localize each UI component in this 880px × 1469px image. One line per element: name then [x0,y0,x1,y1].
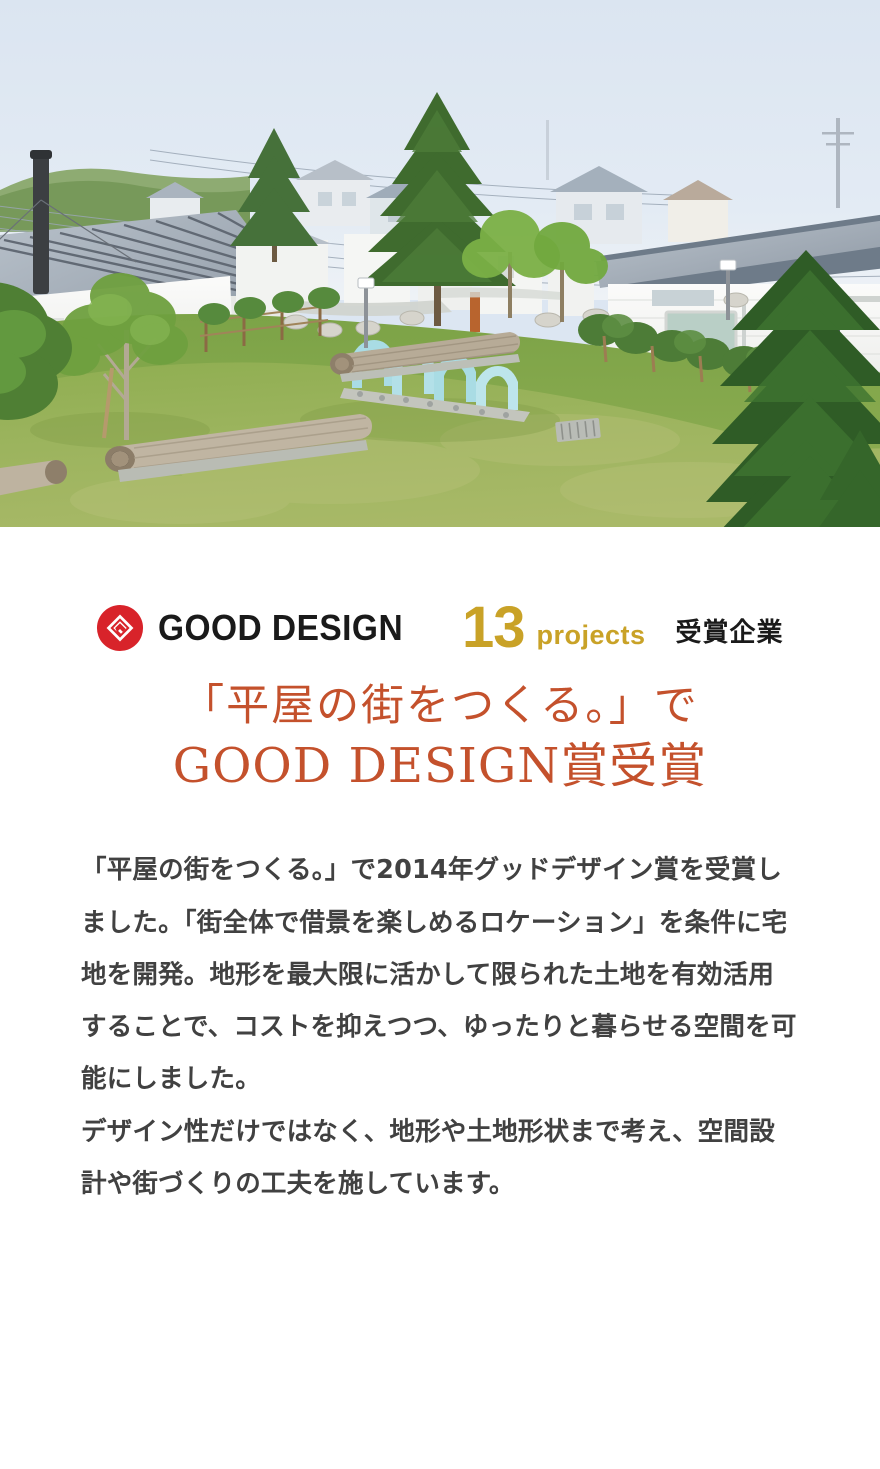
page-title: 「平屋の街をつくる。」で GOOD DESIGN賞受賞 [0,681,880,794]
good-design-wordmark: GOOD DESIGN [158,610,403,646]
award-description-paragraph-2: デザイン性だけではなく、地形や土地形状まで考え、空間設計や街づくりの工夫を施して… [81,1106,799,1211]
award-logo-row: GOOD DESIGN 13 projects 受賞企業 [0,597,880,659]
projects-label: projects [536,622,645,649]
good-design-g-mark-icon [96,604,144,652]
award-description-paragraph-1: 「平屋の街をつくる。」で2014年グッドデザイン賞を受賞しました。「街全体で借景… [81,844,799,1105]
hero-photo [0,0,880,527]
hero-photo-illustration [0,0,880,527]
project-count: 13 [462,599,525,657]
headline-line-1: 「平屋の街をつくる。」で [0,681,880,732]
award-content: GOOD DESIGN 13 projects 受賞企業 「平屋の街をつくる。」… [0,527,880,1210]
award-company-label: 受賞企業 [676,620,784,646]
headline-line-2: GOOD DESIGN賞受賞 [0,738,880,795]
award-description: 「平屋の街をつくる。」で2014年グッドデザイン賞を受賞しました。「街全体で借景… [81,844,799,1210]
